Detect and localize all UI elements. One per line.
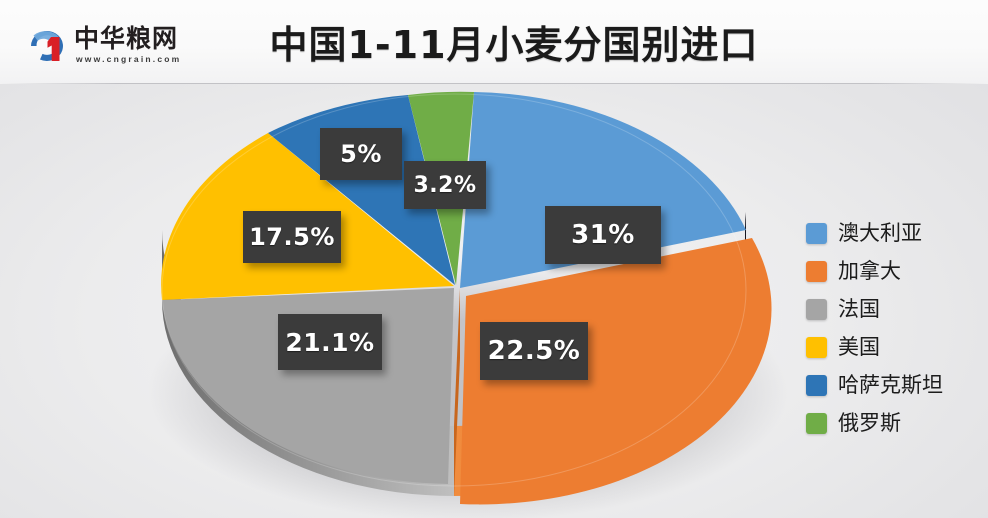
legend-swatch-russia xyxy=(806,413,827,434)
legend-item-kazakhstan[interactable]: 哈萨克斯坦 xyxy=(806,366,982,404)
legend-item-russia[interactable]: 俄罗斯 xyxy=(806,404,982,442)
legend-item-canada[interactable]: 加拿大 xyxy=(806,252,982,290)
data-label-france: 21.1% xyxy=(278,314,382,370)
data-label-usa-text: 17.5% xyxy=(249,223,335,251)
data-label-kazakhstan: 5% xyxy=(320,128,402,180)
data-label-australia: 31% xyxy=(545,206,661,264)
data-label-russia-text: 3.2% xyxy=(413,173,476,198)
legend-swatch-canada xyxy=(806,261,827,282)
legend-label-france: 法国 xyxy=(838,299,880,320)
legend-label-canada: 加拿大 xyxy=(838,261,901,282)
legend-item-australia[interactable]: 澳大利亚 xyxy=(806,214,982,252)
data-label-australia-text: 31% xyxy=(571,220,635,250)
data-label-usa: 17.5% xyxy=(243,211,341,263)
legend-label-australia: 澳大利亚 xyxy=(838,223,922,244)
legend-swatch-kazakhstan xyxy=(806,375,827,396)
legend: 澳大利亚 加拿大 法国 美国 哈萨克斯坦 俄罗斯 xyxy=(806,214,982,442)
legend-label-russia: 俄罗斯 xyxy=(838,413,901,434)
data-label-russia: 3.2% xyxy=(404,161,486,209)
data-label-canada: 22.5% xyxy=(480,322,588,380)
legend-label-kazakhstan: 哈萨克斯坦 xyxy=(838,375,943,396)
legend-swatch-france xyxy=(806,299,827,320)
data-label-kazakhstan-text: 5% xyxy=(340,140,382,168)
data-label-france-text: 21.1% xyxy=(285,328,374,357)
legend-item-france[interactable]: 法国 xyxy=(806,290,982,328)
legend-swatch-usa xyxy=(806,337,827,358)
chart-canvas: 中华粮网 www.cngrain.com 中国1-11月小麦分国别进口 xyxy=(0,0,988,518)
legend-item-usa[interactable]: 美国 xyxy=(806,328,982,366)
legend-swatch-australia xyxy=(806,223,827,244)
data-label-canada-text: 22.5% xyxy=(488,336,581,366)
legend-label-usa: 美国 xyxy=(838,337,880,358)
